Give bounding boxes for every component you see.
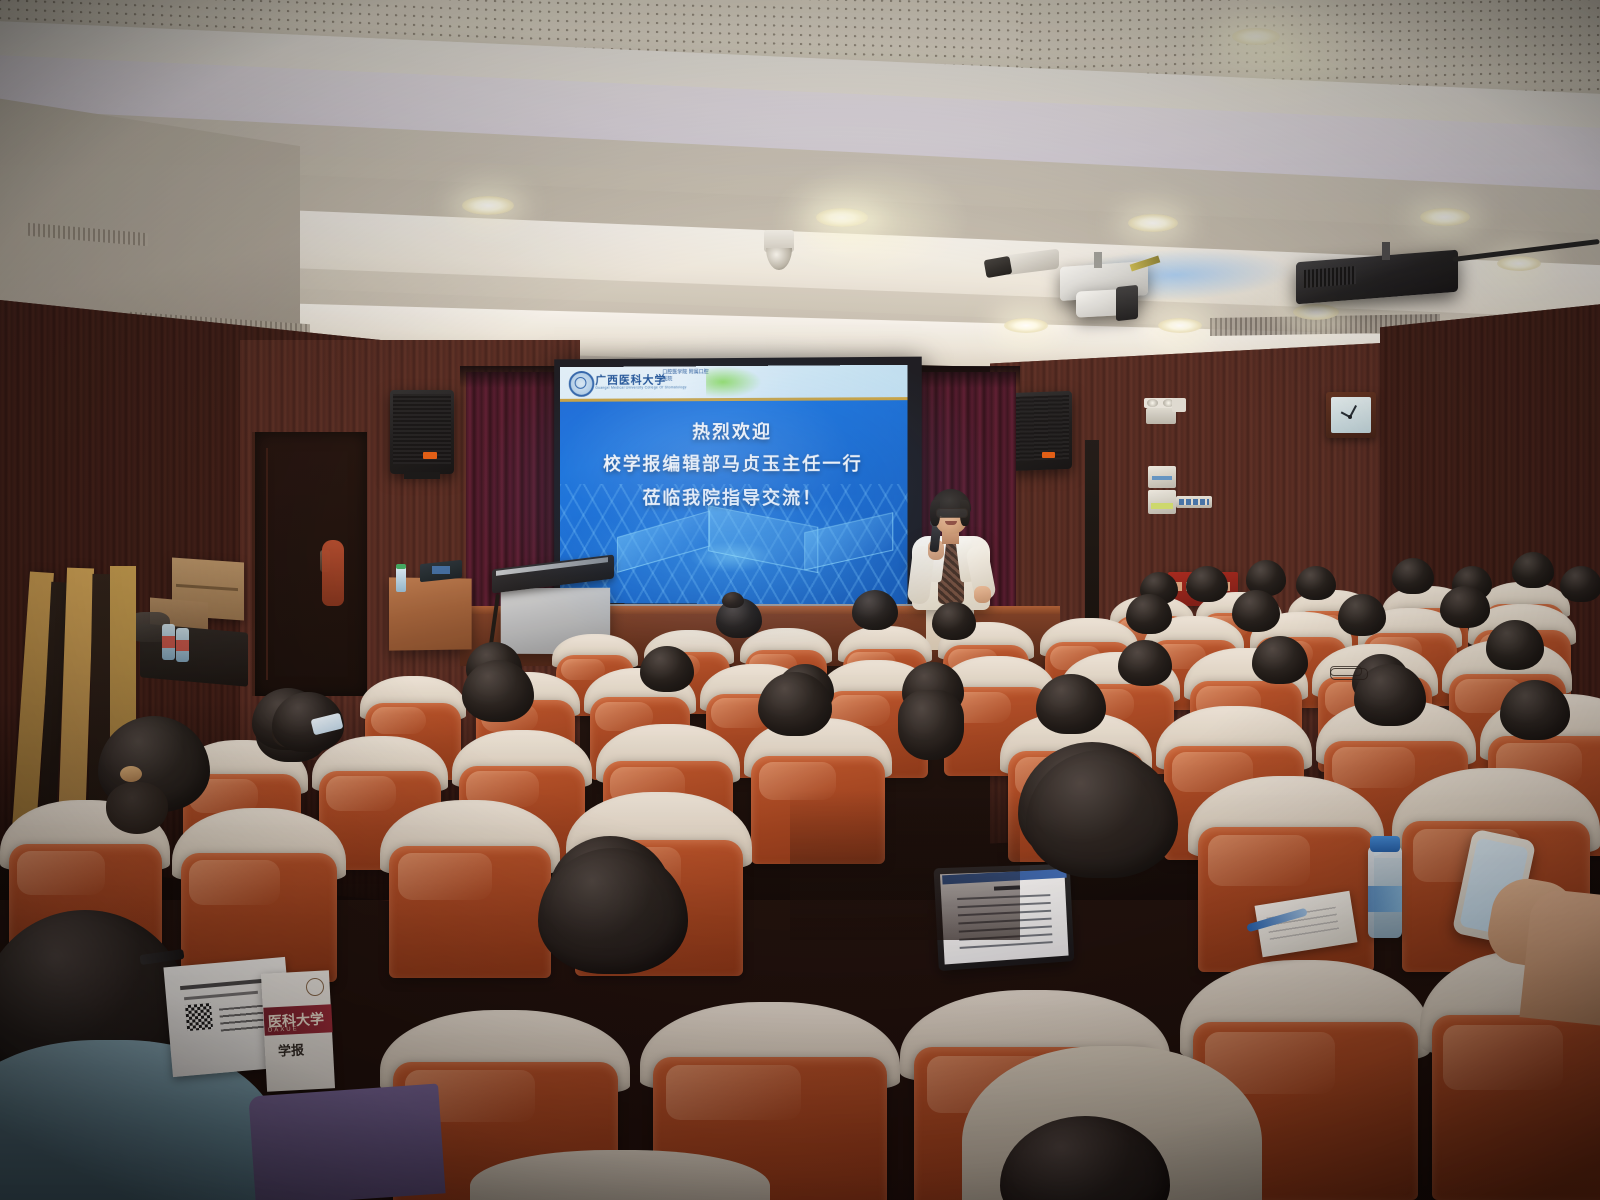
screen-ambient-glow — [470, 330, 1010, 660]
auditorium-photo: 广西医科大学 口腔医学院 附属口腔医院 Guangxi Medical Univ… — [0, 0, 1600, 1200]
